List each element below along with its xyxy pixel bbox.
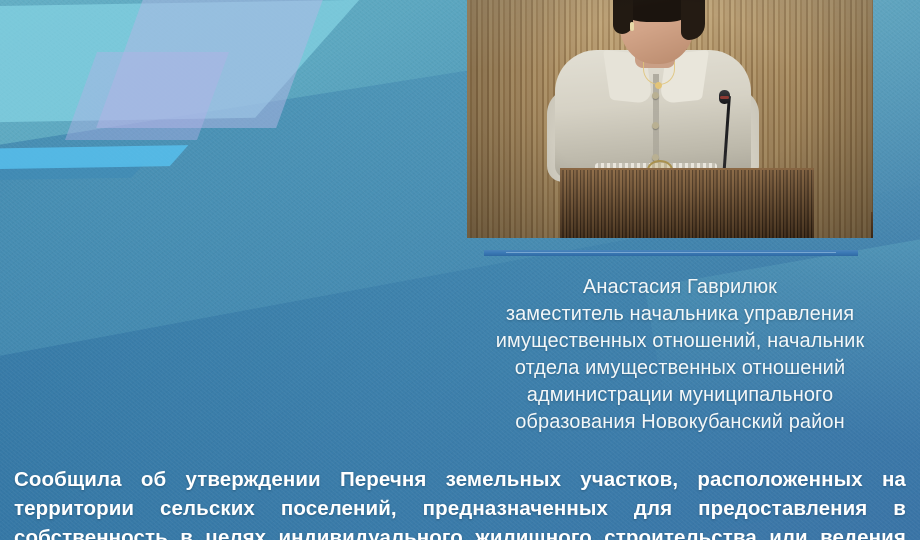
body-word: об: [141, 465, 166, 494]
body-word: поселений,: [281, 494, 397, 523]
accent-divider-bar: [484, 250, 858, 256]
body-word: территории: [14, 494, 134, 523]
caption-line-4: отдела имущественных отношений: [440, 355, 920, 382]
body-word: предназначенных: [423, 494, 608, 523]
body-word: расположенных: [697, 465, 862, 494]
body-word: утверждении: [185, 465, 320, 494]
body-line-2: территориисельскихпоселений,предназначен…: [14, 494, 906, 523]
body-word: индивидуального: [278, 523, 462, 540]
photo-vignette: [467, 0, 873, 238]
body-word: на: [882, 465, 906, 494]
body-word: или: [769, 523, 808, 540]
body-word: сельских: [160, 494, 255, 523]
speaker-caption: Анастасия Гаврилюк заместитель начальник…: [440, 274, 920, 436]
body-word: предоставления: [698, 494, 867, 523]
accent-bar-highlight: [506, 252, 835, 253]
body-word: ведения: [820, 523, 906, 540]
body-word: строительства: [604, 523, 757, 540]
body-word: собственность: [14, 523, 168, 540]
body-word: участков,: [580, 465, 678, 494]
caption-line-6: образования Новокубанский район: [440, 409, 920, 436]
body-word: в: [893, 494, 906, 523]
body-word: Сообщила: [14, 465, 122, 494]
body-word: Перечня: [340, 465, 427, 494]
caption-line-5: администрации муниципального: [440, 382, 920, 409]
body-word: для: [634, 494, 672, 523]
body-word: жилищного: [475, 523, 592, 540]
caption-line-name: Анастасия Гаврилюк: [440, 274, 920, 301]
body-paragraph: СообщилаобутвержденииПеречняземельныхуча…: [14, 465, 906, 540]
caption-line-2: заместитель начальника управления: [440, 301, 920, 328]
body-word: в: [180, 523, 193, 540]
body-word: земельных: [446, 465, 561, 494]
body-word: целях: [205, 523, 266, 540]
presentation-slide: Анастасия Гаврилюк заместитель начальник…: [0, 0, 920, 540]
body-line-1: СообщилаобутвержденииПеречняземельныхуча…: [14, 465, 906, 494]
body-line-3: собственностьвцеляхиндивидуальногожилищн…: [14, 523, 906, 540]
speaker-photo: [467, 0, 873, 238]
caption-line-3: имущественных отношений, начальник: [440, 328, 920, 355]
